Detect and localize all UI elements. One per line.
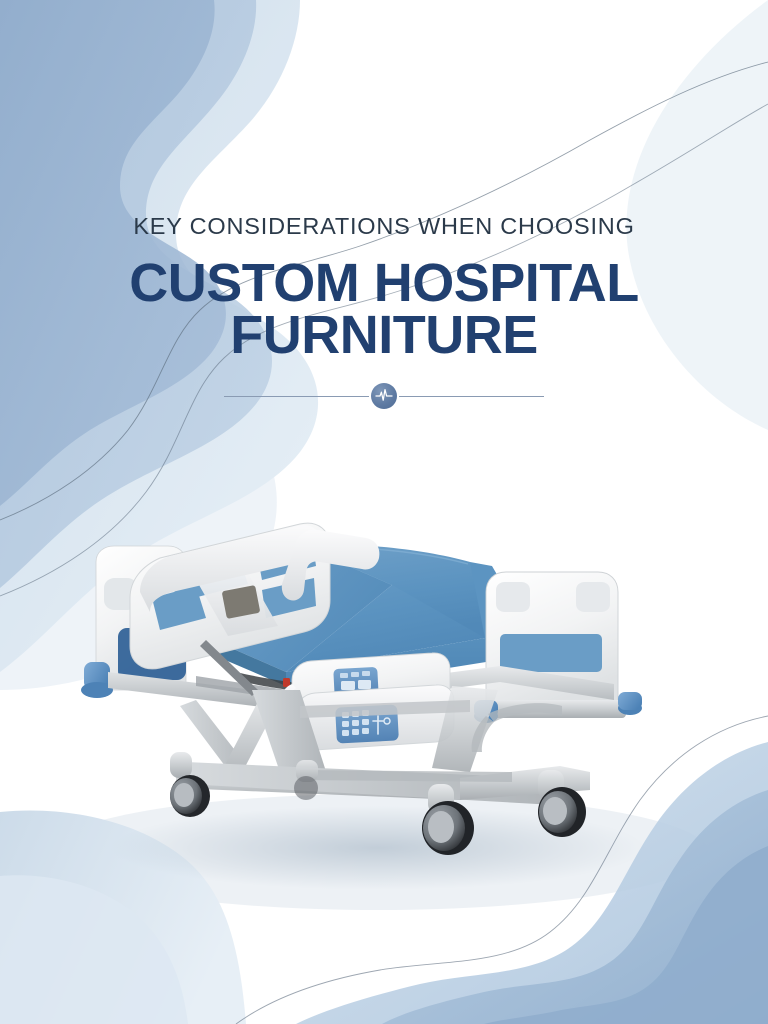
divider-rule-left — [224, 396, 369, 397]
eyebrow-text: KEY CONSIDERATIONS WHEN CHOOSING — [0, 214, 768, 240]
divider-rule-right — [399, 396, 544, 397]
divider — [0, 382, 768, 410]
heartbeat-pulse-icon — [371, 383, 397, 409]
background-decoration — [0, 0, 768, 1024]
headline-block: KEY CONSIDERATIONS WHEN CHOOSING CUSTOM … — [0, 214, 768, 362]
poster-canvas: KEY CONSIDERATIONS WHEN CHOOSING CUSTOM … — [0, 0, 768, 1024]
headline-line-1: CUSTOM HOSPITAL — [129, 253, 639, 313]
page-title: CUSTOM HOSPITAL FURNITURE — [0, 258, 768, 362]
headline-line-2: FURNITURE — [0, 310, 768, 362]
